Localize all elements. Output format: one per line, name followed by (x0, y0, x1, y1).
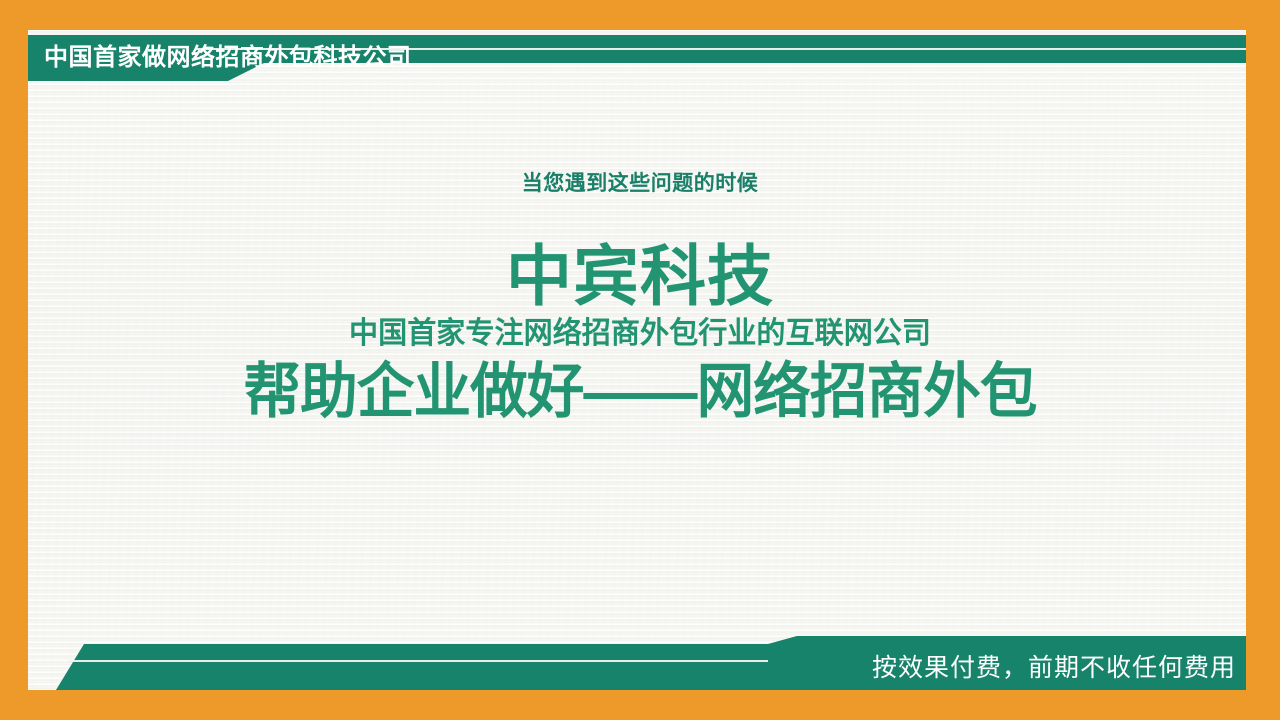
presentation-slide: 中国首家做网络招商外包科技公司 当您遇到这些问题的时候 中宾科技 中国首家专注网… (0, 0, 1280, 720)
headline-text: 帮助企业做好——网络招商外包 (26, 362, 1255, 422)
header-title: 中国首家做网络招商外包科技公司 (44, 40, 412, 76)
kicker-text: 当您遇到这些问题的时候 (0, 167, 1280, 197)
tagline-text: 中国首家专注网络招商外包行业的互联网公司 (19, 319, 1261, 349)
brand-title: 中宾科技 (0, 243, 1280, 309)
footer-banner-hairline (68, 660, 768, 662)
footer-text: 按效果付费，前期不收任何费用 (872, 651, 1236, 685)
